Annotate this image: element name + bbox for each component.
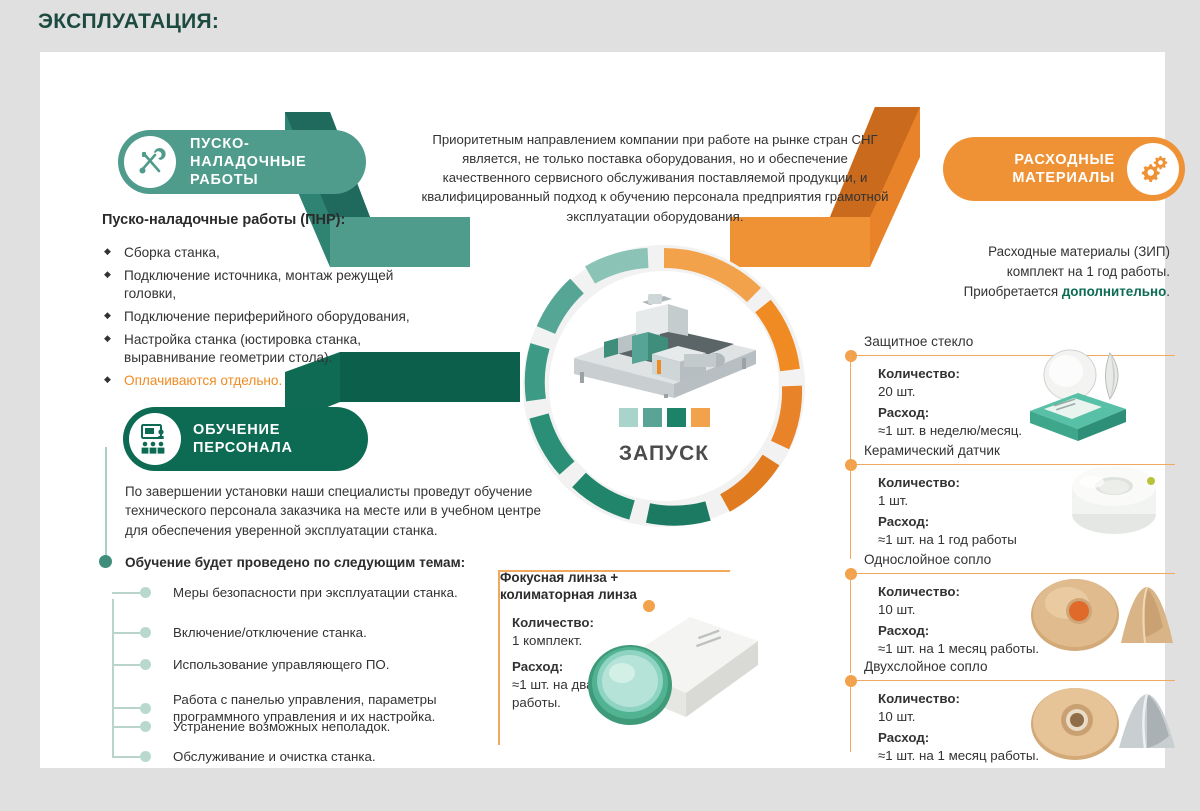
commissioning-title: Пуско-наладочные работы (ПНР): <box>102 212 432 228</box>
quantity-value: 1 шт. <box>878 493 908 508</box>
consumption-value: ≈1 шт. в неделю/месяц. <box>878 423 1022 438</box>
training-intro: По завершении установки наши специалисты… <box>125 482 545 540</box>
training-spine <box>105 447 107 563</box>
training-topic-row: Меры безопасности при эксплуатации станк… <box>112 584 458 601</box>
color-swatch <box>691 408 710 427</box>
consumable-side-line <box>850 355 851 459</box>
training-topic-row: Устранение возможных неполадок. <box>112 718 390 735</box>
commissioning-list-item: Оплачиваются отдельно. <box>102 372 432 390</box>
topic-dot <box>140 751 151 762</box>
quantity-value: 10 шт. <box>878 602 915 617</box>
consumption-value: ≈1 шт. на 1 месяц работы. <box>878 641 1039 656</box>
topic-dot <box>140 627 151 638</box>
training-bullet-dot <box>99 555 112 568</box>
topic-dot <box>140 659 151 670</box>
color-swatch <box>643 408 662 427</box>
intro-paragraph: Приоритетным направлением компании при р… <box>420 130 890 226</box>
training-pill-label: ОБУЧЕНИЕ ПЕРСОНАЛА <box>193 421 362 457</box>
training-topic-row: Включение/отключение станка. <box>112 624 367 641</box>
laser-cutting-machine-icon <box>556 288 774 398</box>
topic-tick <box>112 592 140 594</box>
tools-wrench-screwdriver-icon <box>124 136 176 188</box>
protective-glass-icon <box>1022 349 1177 452</box>
ceramic-sensor-icon <box>1052 458 1177 543</box>
consumption-value: ≈1 шт. на 1 год работы <box>878 532 1017 547</box>
topic-label: Использование управляющего ПО. <box>173 656 389 673</box>
double-layer-nozzle-icon <box>1027 674 1177 767</box>
color-swatch <box>667 408 686 427</box>
commissioning-list-item: Настройка станка (юстировка станка, выра… <box>102 331 432 367</box>
commissioning-list-item: Подключение источника, монтаж режущей го… <box>102 267 432 303</box>
training-topic-row: Использование управляющего ПО. <box>112 656 389 673</box>
training-topic-row: Обслуживание и очистка станка. <box>112 748 376 765</box>
focus-collimator-lens-icon <box>570 597 760 732</box>
quantity-value: 20 шт. <box>878 384 915 399</box>
presentation-classroom-icon <box>129 413 181 465</box>
color-swatch-row <box>518 408 810 427</box>
consumable-name: Однослойное сопло <box>864 552 991 567</box>
consumable-name: Защитное стекло <box>864 334 973 349</box>
consumable-dot <box>845 350 857 362</box>
quantity-value: 10 шт. <box>878 709 915 724</box>
commissioning-list-item: Подключение периферийного оборудования, <box>102 308 432 326</box>
consumption-value: ≈1 шт. на 1 месяц работы. <box>878 748 1039 763</box>
topic-dot <box>140 721 151 732</box>
topic-tick <box>112 664 140 666</box>
infographic-card: ЗАПУСК ПУСКО-НАЛАДОЧНЫЕ РАБОТЫ Пуско-нал… <box>40 52 1165 768</box>
topic-label: Меры безопасности при эксплуатации станк… <box>173 584 458 601</box>
consumable-name: Двухслойное сопло <box>864 659 988 674</box>
consumable-side-line <box>850 680 851 752</box>
consumables-pill-label: РАСХОДНЫЕ МАТЕРИАЛЫ <box>949 151 1115 187</box>
training-header-pill[interactable]: ОБУЧЕНИЕ ПЕРСОНАЛА <box>123 407 368 471</box>
topic-tick <box>112 632 140 634</box>
topic-label: Обслуживание и очистка станка. <box>173 748 376 765</box>
topic-tick <box>112 707 140 709</box>
color-swatch <box>619 408 638 427</box>
topic-tick <box>112 726 140 728</box>
launch-wheel: ЗАПУСК <box>518 240 810 532</box>
consumables-intro-line3-pre: Приобретается <box>964 284 1062 299</box>
commissioning-list: Сборка станка,Подключение источника, мон… <box>102 244 432 390</box>
consumable-side-line <box>850 464 851 559</box>
consumable-dot <box>845 675 857 687</box>
topic-dot <box>140 587 151 598</box>
topic-tick <box>112 756 140 758</box>
training-heading: Обучение будет проведено по следующим те… <box>125 555 465 570</box>
commissioning-list-item: Сборка станка, <box>102 244 432 262</box>
topic-dot <box>140 703 151 714</box>
commissioning-pill-label: ПУСКО-НАЛАДОЧНЫЕ РАБОТЫ <box>190 135 360 189</box>
consumables-header-pill[interactable]: РАСХОДНЫЕ МАТЕРИАЛЫ <box>943 137 1185 201</box>
single-layer-nozzle-icon <box>1027 567 1177 660</box>
consumables-intro-line1: Расходные материалы (ЗИП) <box>988 244 1170 259</box>
consumables-intro: Расходные материалы (ЗИП) комплект на 1 … <box>920 242 1170 302</box>
consumable-side-line <box>850 573 851 673</box>
commissioning-header-pill[interactable]: ПУСКО-НАЛАДОЧНЫЕ РАБОТЫ <box>118 130 366 194</box>
consumables-intro-highlight: дополнительно <box>1062 284 1166 299</box>
page-title: ЭКСПЛУАТАЦИЯ: <box>38 10 219 34</box>
lens-title-line1: Фокусная линза + <box>500 570 618 585</box>
topic-label: Устранение возможных неполадок. <box>173 718 390 735</box>
consumable-name: Керамический датчик <box>864 443 1000 458</box>
consumables-intro-line2: комплект на 1 год работы. <box>1007 264 1170 279</box>
consumable-dot <box>845 568 857 580</box>
topic-label: Включение/отключение станка. <box>173 624 367 641</box>
commissioning-body: Пуско-наладочные работы (ПНР): Сборка ст… <box>102 212 432 395</box>
launch-label: ЗАПУСК <box>518 442 810 466</box>
consumables-intro-line3-post: . <box>1166 284 1170 299</box>
gears-icon <box>1127 143 1179 195</box>
consumable-dot <box>845 459 857 471</box>
